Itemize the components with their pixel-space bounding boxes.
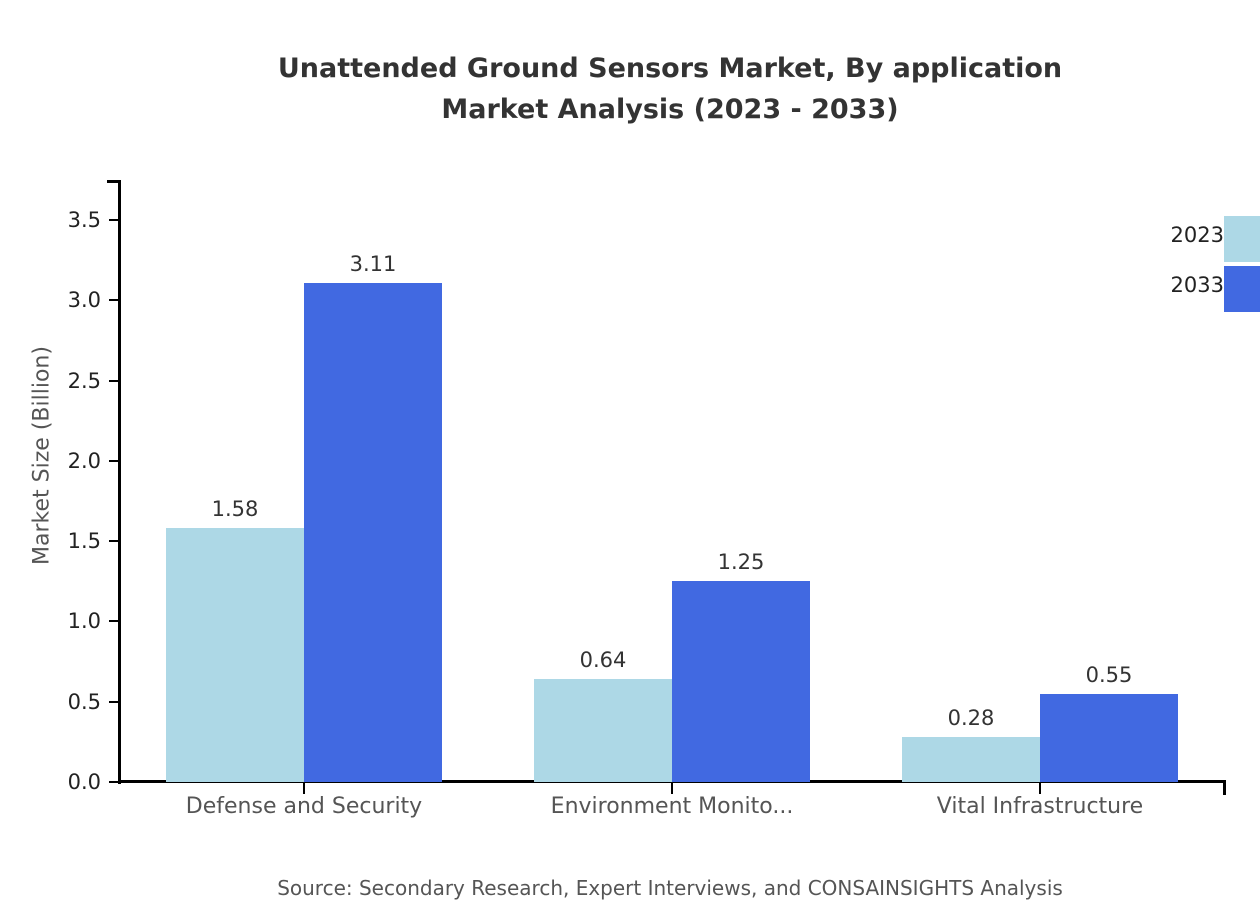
source-note: Source: Secondary Research, Expert Inter… <box>0 876 1260 900</box>
legend-item-2033[interactable]: 2033 <box>1130 264 1260 314</box>
y-tick-mark <box>109 299 120 301</box>
x-tick-label: Vital Infrastructure <box>840 792 1240 822</box>
y-tick-mark <box>109 620 120 622</box>
bar-value-label: 0.55 <box>1040 662 1178 688</box>
y-tick-mark <box>109 380 120 382</box>
bar-value-label: 1.58 <box>166 496 304 522</box>
y-axis-top-cap <box>107 180 121 183</box>
bar-2023-Defense and Security[interactable] <box>166 528 304 782</box>
chart-title-line-1: Unattended Ground Sensors Market, By app… <box>0 48 1260 89</box>
chart-title-line-2: Market Analysis (2023 - 2033) <box>0 89 1260 130</box>
chart-figure: Unattended Ground Sensors Market, By app… <box>0 0 1260 920</box>
bar-2023-Vital Infrastructure[interactable] <box>902 737 1040 782</box>
bar-2033-Vital Infrastructure[interactable] <box>1040 694 1178 782</box>
chart-legend: 20232033 <box>1130 214 1260 314</box>
y-tick-label: 0.5 <box>68 689 101 715</box>
y-tick-label: 3.0 <box>68 287 101 313</box>
y-axis-title: Market Size (Billion) <box>30 46 55 866</box>
x-tick-label: Defense and Security <box>104 792 504 822</box>
x-tick-label: Environment Monito... <box>472 792 872 822</box>
bar-value-label: 0.64 <box>534 647 672 673</box>
y-tick-label: 2.0 <box>68 448 101 474</box>
y-tick-mark <box>109 540 120 542</box>
y-tick-label: 3.5 <box>68 207 101 233</box>
chart-title: Unattended Ground Sensors Market, By app… <box>0 48 1260 130</box>
y-tick-mark <box>109 219 120 221</box>
y-tick-label: 1.5 <box>68 528 101 554</box>
bar-2023-Environment Monito...[interactable] <box>534 679 672 782</box>
legend-label: 2033 <box>1171 272 1224 298</box>
y-tick-mark <box>109 460 120 462</box>
legend-swatch <box>1224 216 1260 262</box>
legend-item-2023[interactable]: 2023 <box>1130 214 1260 264</box>
bar-value-label: 3.11 <box>304 251 442 277</box>
bar-2033-Environment Monito...[interactable] <box>672 581 810 782</box>
bar-value-label: 0.28 <box>902 705 1040 731</box>
y-tick-mark <box>109 781 120 783</box>
y-tick-label: 2.5 <box>68 368 101 394</box>
plot-area: 1.583.110.641.250.280.55 <box>120 180 1224 782</box>
legend-swatch <box>1224 266 1260 312</box>
legend-label: 2023 <box>1171 222 1224 248</box>
y-tick-label: 0.0 <box>68 769 101 795</box>
bar-value-label: 1.25 <box>672 549 810 575</box>
bar-2033-Defense and Security[interactable] <box>304 283 442 782</box>
y-tick-mark <box>109 701 120 703</box>
y-tick-label: 1.0 <box>68 608 101 634</box>
